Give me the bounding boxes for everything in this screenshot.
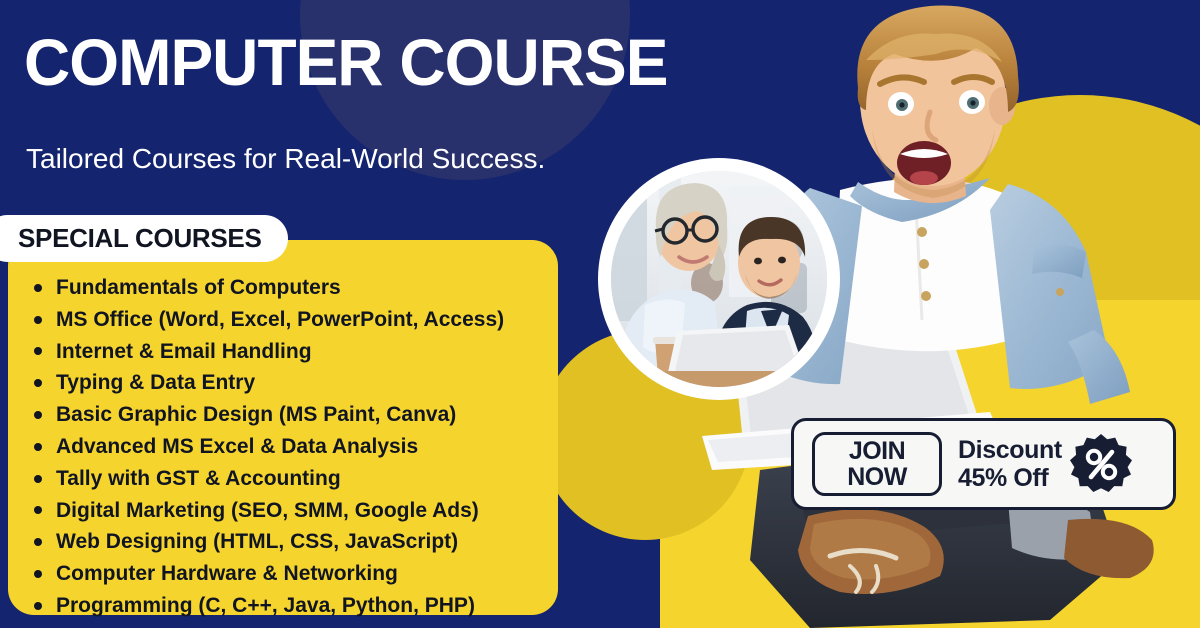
course-label: Fundamentals of Computers bbox=[56, 276, 341, 299]
page-subtitle: Tailored Courses for Real-World Success. bbox=[26, 143, 545, 175]
bullet-icon bbox=[34, 475, 42, 483]
course-list: Fundamentals of Computers MS Office (Wor… bbox=[8, 272, 608, 622]
course-label: Typing & Data Entry bbox=[56, 371, 255, 394]
bullet-icon bbox=[34, 602, 42, 610]
discount-line-2: 45% Off bbox=[958, 464, 1062, 492]
list-item: MS Office (Word, Excel, PowerPoint, Acce… bbox=[8, 304, 608, 336]
discount-line-1: Discount bbox=[958, 436, 1062, 464]
list-item: Typing & Data Entry bbox=[8, 367, 608, 399]
course-label: Digital Marketing (SEO, SMM, Google Ads) bbox=[56, 499, 479, 522]
list-item: Computer Hardware & Networking bbox=[8, 558, 608, 590]
join-now-button[interactable]: JOIN NOW bbox=[812, 432, 942, 496]
special-courses-badge: SPECIAL COURSES bbox=[0, 215, 288, 262]
course-label: Web Designing (HTML, CSS, JavaScript) bbox=[56, 530, 458, 553]
list-item: Web Designing (HTML, CSS, JavaScript) bbox=[8, 526, 608, 558]
list-item: Digital Marketing (SEO, SMM, Google Ads) bbox=[8, 495, 608, 527]
course-label: Advanced MS Excel & Data Analysis bbox=[56, 435, 418, 458]
list-item: Advanced MS Excel & Data Analysis bbox=[8, 431, 608, 463]
bullet-icon bbox=[34, 411, 42, 419]
join-line-1: JOIN bbox=[849, 438, 905, 464]
bullet-icon bbox=[34, 570, 42, 578]
course-label: Basic Graphic Design (MS Paint, Canva) bbox=[56, 403, 456, 426]
cta-card[interactable]: JOIN NOW Discount 45% Off bbox=[791, 418, 1176, 510]
inset-photo-frame bbox=[598, 158, 840, 400]
course-label: MS Office (Word, Excel, PowerPoint, Acce… bbox=[56, 308, 504, 331]
promo-poster: COMPUTER COURSE Tailored Courses for Rea… bbox=[0, 0, 1200, 628]
list-item: Basic Graphic Design (MS Paint, Canva) bbox=[8, 399, 608, 431]
bullet-icon bbox=[34, 347, 42, 355]
join-line-2: NOW bbox=[847, 464, 907, 490]
bullet-icon bbox=[34, 443, 42, 451]
bullet-icon bbox=[34, 379, 42, 387]
percent-badge-icon bbox=[1070, 433, 1132, 495]
list-item: Fundamentals of Computers bbox=[8, 272, 608, 304]
list-item: Programming (C, C++, Java, Python, PHP) bbox=[8, 590, 608, 622]
discount-text: Discount 45% Off bbox=[958, 436, 1062, 492]
bullet-icon bbox=[34, 538, 42, 546]
course-label: Programming (C, C++, Java, Python, PHP) bbox=[56, 594, 475, 617]
bullet-icon bbox=[34, 284, 42, 292]
course-label: Tally with GST & Accounting bbox=[56, 467, 341, 490]
inset-photo bbox=[611, 171, 827, 387]
course-label: Internet & Email Handling bbox=[56, 340, 312, 363]
bullet-icon bbox=[34, 316, 42, 324]
list-item: Internet & Email Handling bbox=[8, 336, 608, 368]
course-label: Computer Hardware & Networking bbox=[56, 562, 398, 585]
list-item: Tally with GST & Accounting bbox=[8, 463, 608, 495]
bullet-icon bbox=[34, 506, 42, 514]
page-title: COMPUTER COURSE bbox=[24, 29, 667, 95]
